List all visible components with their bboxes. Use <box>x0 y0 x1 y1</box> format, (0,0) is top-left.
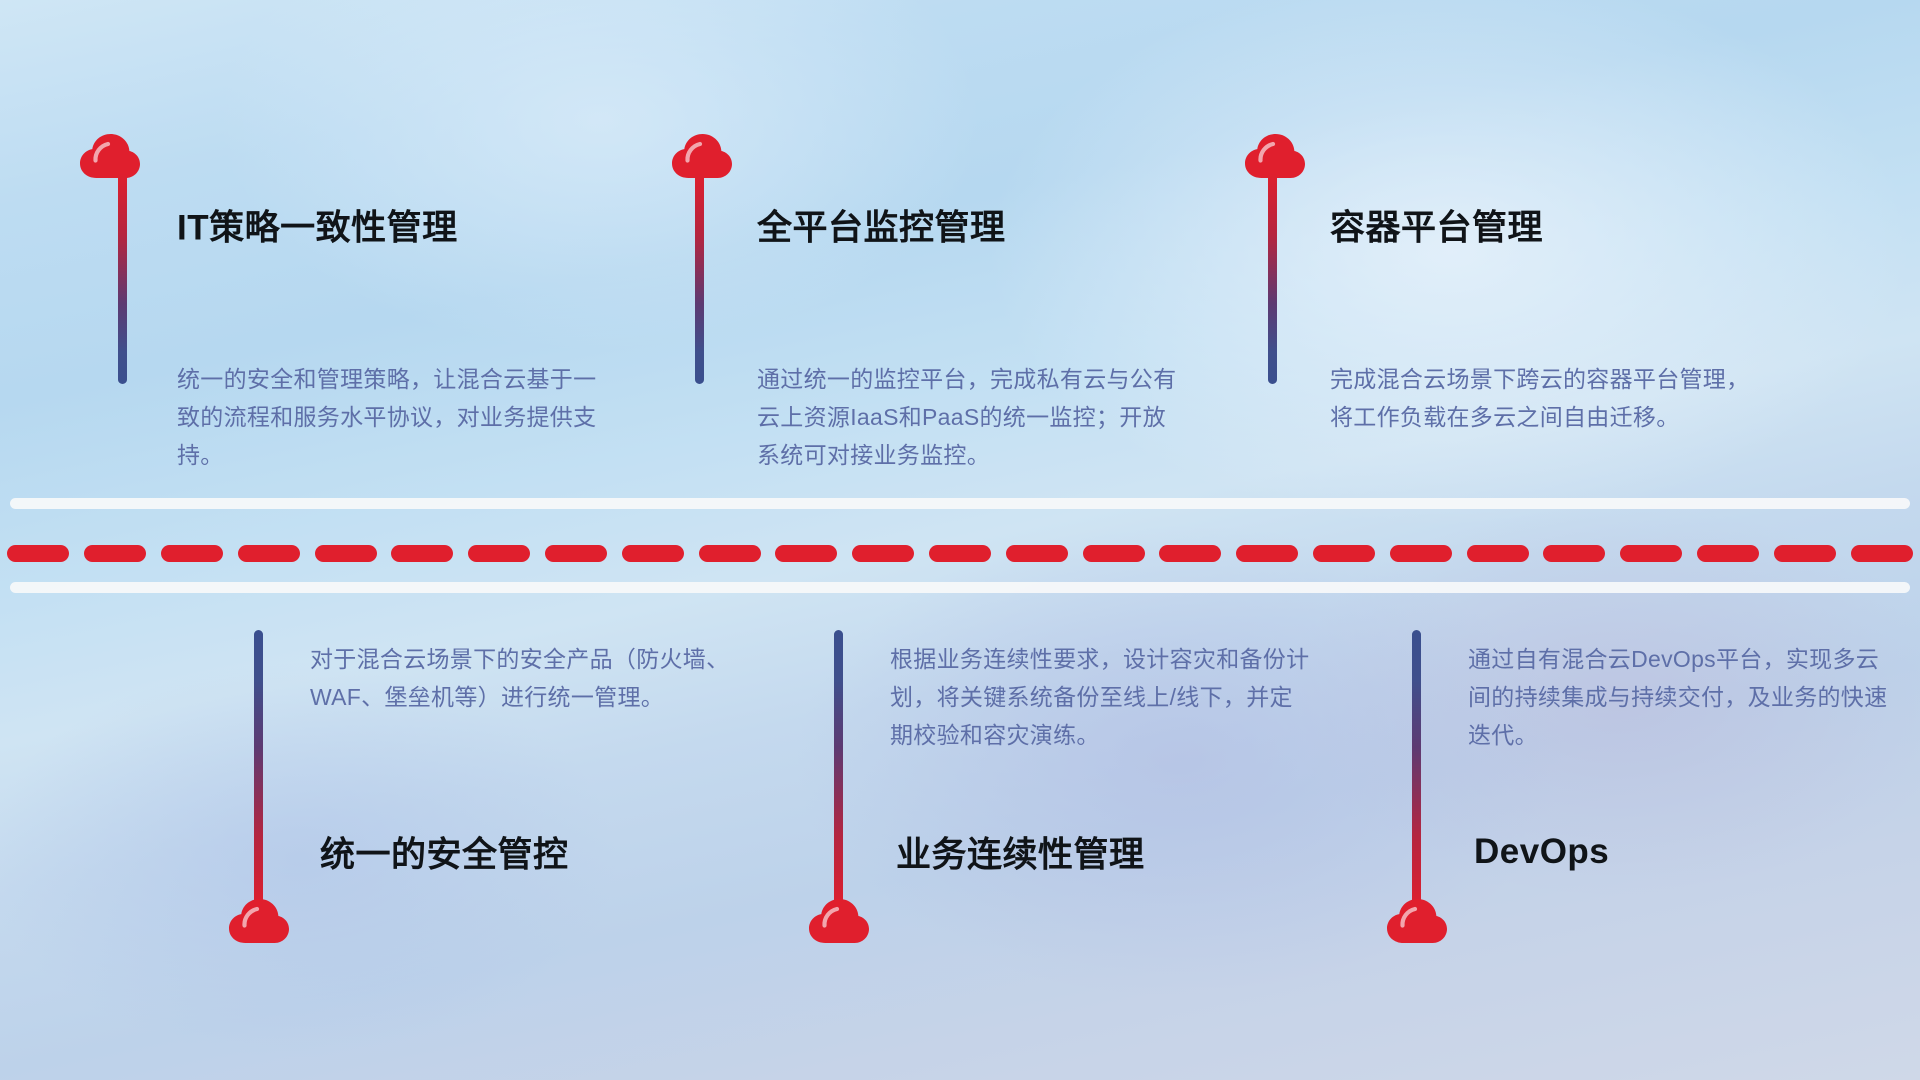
divider-dash <box>1467 545 1529 562</box>
divider-dash <box>1159 545 1221 562</box>
connector-stem <box>254 630 263 910</box>
card-body: 通过统一的监控平台，完成私有云与公有云上资源IaaS和PaaS的统一监控；开放系… <box>757 360 1187 474</box>
divider-dash <box>84 545 146 562</box>
divider-dash <box>775 545 837 562</box>
divider-dash <box>1697 545 1759 562</box>
divider-dash <box>238 545 300 562</box>
connector-stem <box>695 172 704 384</box>
divider-dash <box>1543 545 1605 562</box>
card-body: 对于混合云场景下的安全产品（防火墙、WAF、堡垒机等）进行统一管理。 <box>310 640 730 716</box>
connector-stem <box>118 172 127 384</box>
card-title: 容器平台管理 <box>1330 200 1543 251</box>
divider-dash <box>391 545 453 562</box>
divider-dash <box>1620 545 1682 562</box>
card-title: 统一的安全管控 <box>320 827 569 878</box>
card-title: IT策略一致性管理 <box>177 200 458 251</box>
cloud-icon <box>808 898 870 944</box>
dashed-separator <box>0 545 1920 562</box>
infographic-canvas: IT策略一致性管理 统一的安全和管理策略，让混合云基于一致的流程和服务水平协议，… <box>0 0 1920 1080</box>
divider-dash <box>1006 545 1068 562</box>
connector-stem <box>834 630 843 910</box>
divider-band-bottom <box>10 582 1910 593</box>
divider-dash <box>1774 545 1836 562</box>
divider-dash <box>1851 545 1913 562</box>
cloud-icon <box>79 133 141 179</box>
card-title: DevOps <box>1474 832 1609 872</box>
divider-dash <box>7 545 69 562</box>
divider-dash <box>622 545 684 562</box>
card-body: 完成混合云场景下跨云的容器平台管理，将工作负载在多云之间自由迁移。 <box>1330 360 1760 436</box>
card-title: 全平台监控管理 <box>757 200 1006 251</box>
connector-stem <box>1268 172 1277 384</box>
divider-dash <box>1236 545 1298 562</box>
cloud-icon <box>228 898 290 944</box>
card-body: 通过自有混合云DevOps平台，实现多云间的持续集成与持续交付，及业务的快速迭代… <box>1468 640 1888 754</box>
divider-band-top <box>10 498 1910 509</box>
card-title: 业务连续性管理 <box>896 827 1145 878</box>
divider-dash <box>1390 545 1452 562</box>
divider-dash <box>929 545 991 562</box>
connector-stem <box>1412 630 1421 910</box>
card-body: 根据业务连续性要求，设计容灾和备份计划，将关键系统备份至线上/线下，并定期校验和… <box>890 640 1310 754</box>
card-body: 统一的安全和管理策略，让混合云基于一致的流程和服务水平协议，对业务提供支持。 <box>177 360 607 474</box>
divider-dash <box>315 545 377 562</box>
divider-dash <box>1313 545 1375 562</box>
divider-dash <box>545 545 607 562</box>
cloud-icon <box>1386 898 1448 944</box>
divider-dash <box>468 545 530 562</box>
divider-dash <box>699 545 761 562</box>
divider-dash <box>161 545 223 562</box>
divider-dash <box>1083 545 1145 562</box>
divider-dash <box>852 545 914 562</box>
